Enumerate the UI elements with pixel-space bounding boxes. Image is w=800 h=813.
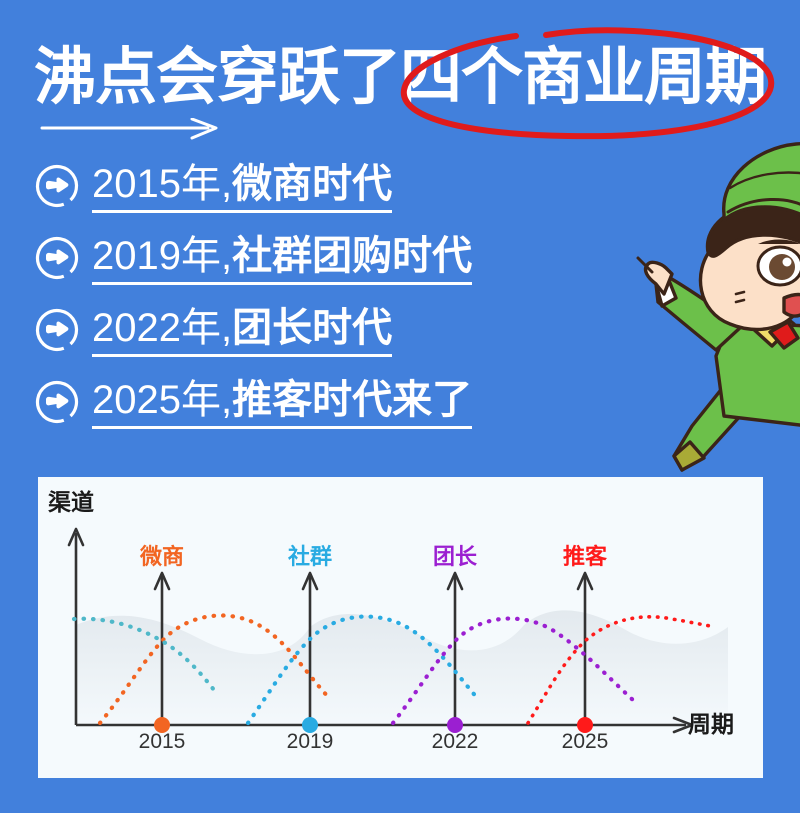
list-item-era: 推客时代来了 — [232, 378, 472, 422]
x-tick-2015: 2015 — [139, 730, 186, 754]
series-label-weishang: 微商 — [140, 539, 184, 571]
list-item-year: 2022年, — [92, 306, 232, 350]
pointing-hand-circle-icon — [34, 163, 80, 209]
x-tick-2019: 2019 — [287, 730, 334, 754]
list-item[interactable]: 2019年,社群团购时代 — [34, 222, 634, 294]
list-item-year: 2019年, — [92, 234, 232, 278]
pointing-hand-circle-icon — [34, 307, 80, 353]
list-item-era: 团长时代 — [232, 306, 392, 350]
list-item-label: 2015年,微商时代 — [92, 160, 392, 213]
page-title: 沸点会穿跃了四个商业周期 — [34, 36, 774, 120]
pointing-hand-circle-icon — [34, 379, 80, 425]
list-item-label: 2025年,推客时代来了 — [92, 376, 472, 429]
poster-root: 沸点会穿跃了四个商业周期 2015年,微商时代 — [0, 0, 800, 813]
x-axis-label: 周期 — [688, 705, 734, 739]
list-item-era: 微商时代 — [232, 162, 392, 206]
list-item-label: 2022年,团长时代 — [92, 304, 392, 357]
list-item[interactable]: 2015年,微商时代 — [34, 150, 634, 222]
headline-rest: 穿跃了四个商业周期 — [217, 43, 766, 112]
mascot-character — [612, 126, 800, 488]
x-tick-2025: 2025 — [562, 730, 609, 754]
series-label-shequn: 社群 — [288, 539, 332, 571]
y-axis-label: 渠道 — [48, 483, 94, 517]
list-item[interactable]: 2022年,团长时代 — [34, 294, 634, 366]
series-label-tuanzhang: 团长 — [433, 539, 477, 571]
list-item-year: 2015年, — [92, 162, 232, 206]
list-item-label: 2019年,社群团购时代 — [92, 232, 472, 285]
list-item-era: 社群团购时代 — [232, 234, 472, 278]
right-arrow-icon — [40, 118, 225, 140]
cycle-chart-panel: 渠道 周期 微商 社群 团长 推客 2015 2019 2022 2025 — [38, 477, 763, 778]
list-item-year: 2025年, — [92, 378, 232, 422]
series-label-tuike: 推客 — [563, 539, 607, 571]
list-item[interactable]: 2025年,推客时代来了 — [34, 366, 634, 438]
x-tick-2022: 2022 — [432, 730, 479, 754]
bullet-list: 2015年,微商时代 2019年,社群团购时代 2022年,团长时代 — [34, 150, 634, 438]
headline-brand: 沸点会 — [34, 43, 217, 112]
pointing-hand-circle-icon — [34, 235, 80, 281]
